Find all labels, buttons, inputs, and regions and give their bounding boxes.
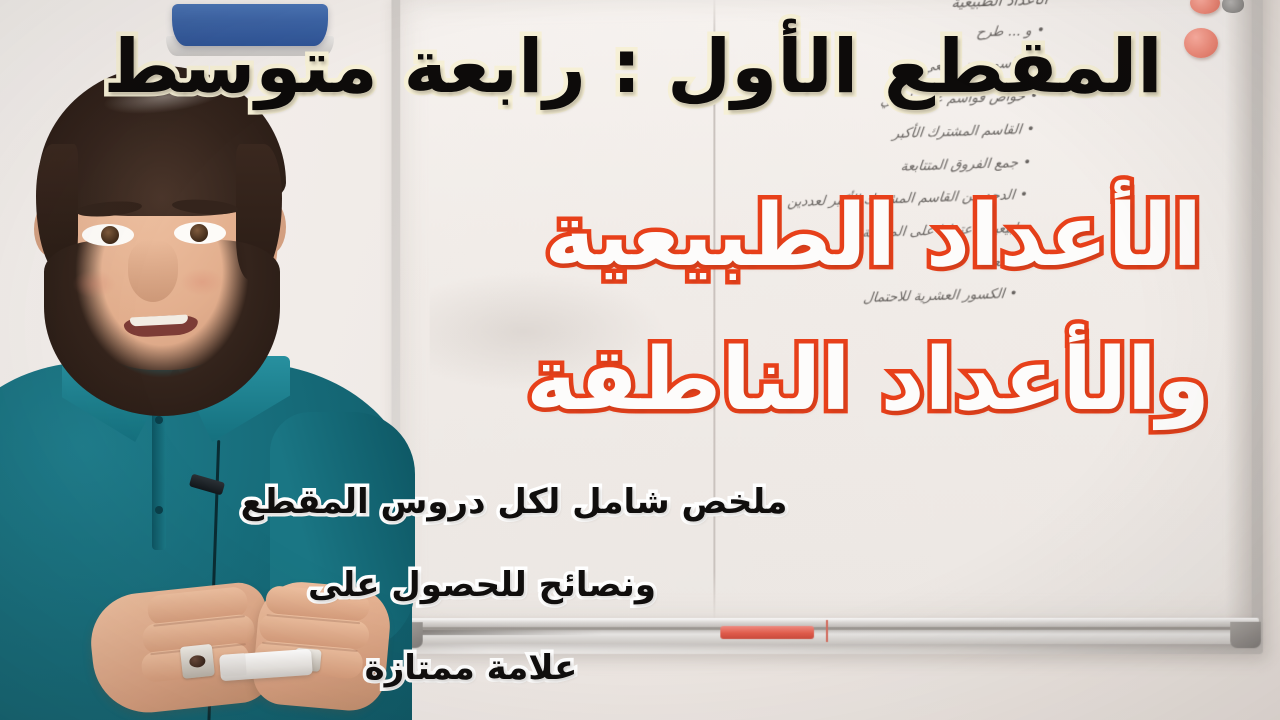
video-thumbnail: الأعداد الطبيعية و ... طرح قواسم عدد طبي… (0, 0, 1280, 720)
cheek-left (72, 270, 116, 298)
eye-left (82, 224, 134, 246)
overlay-title: المقطع الأول : رابعة متوسط (0, 24, 1266, 110)
overlay-subtitle-line3: علامة ممتازة (0, 648, 942, 688)
overlay-headline-line2: والأعداد الناطقة (526, 330, 1210, 430)
note-line: الكسور العشرية للاحتمال (716, 286, 1018, 311)
frame-corner-cap-right (1230, 622, 1261, 648)
cheek-right (180, 268, 224, 296)
note-line: الأعداد الطبيعية (746, 0, 1049, 19)
iris (101, 226, 119, 244)
shirt-button (155, 416, 163, 424)
tray-grime (417, 630, 604, 635)
overlay-subtitle-line1: ملخص شامل لكل دروس المقطع (0, 482, 1028, 522)
overlay-headline-line1: الأعداد الطبيعية (544, 186, 1202, 286)
note-line: جمع الفروق المتتابعة (730, 154, 1032, 180)
overlay-subtitle-line2: ونصائح للحصول على (0, 565, 964, 605)
note-line: القاسم المشترك الأكبر (733, 121, 1035, 148)
pin (1222, 0, 1244, 13)
eye-right (174, 222, 226, 244)
iris (190, 224, 208, 242)
thin-red-marker (826, 620, 828, 642)
red-board-eraser (720, 626, 814, 639)
presenter (0, 44, 414, 720)
nose (128, 240, 178, 302)
marker-tray (395, 618, 1258, 644)
